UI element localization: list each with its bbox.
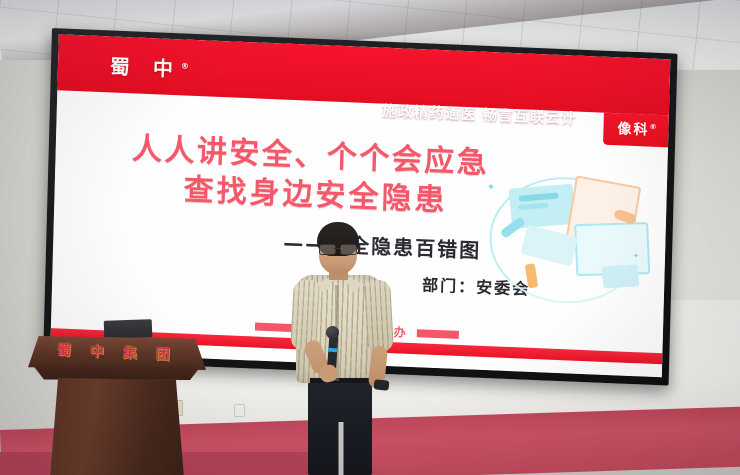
podium: 蜀 中 集 团 xyxy=(28,330,214,475)
sparkle-icon: ✦ xyxy=(633,252,639,260)
company-logo-text: 蜀 中 xyxy=(110,54,182,81)
glasses-icon xyxy=(319,244,357,253)
presenter-waist xyxy=(310,378,370,383)
illustration-tray-icon xyxy=(602,264,640,288)
registered-mark-icon: ® xyxy=(181,62,189,71)
presentation-room-photo: 蜀 中® 施政精药通医 畅言互联云计 像科® 人人讲安全、个个会应急 查找身边安… xyxy=(0,0,740,475)
sparkle-icon: ✦ xyxy=(487,182,496,193)
wall-outlet xyxy=(234,404,245,417)
footer-dash-right xyxy=(417,329,459,339)
presenter-leg-gap xyxy=(339,422,344,475)
slide-title-block: 人人讲安全、个个会应急 查找身边安全隐患 xyxy=(94,128,526,224)
corner-brand-text: 像科 xyxy=(617,121,649,138)
presenter xyxy=(288,222,394,475)
presenter-right-arm xyxy=(364,279,394,352)
company-logo: 蜀 中® xyxy=(110,50,190,82)
podium-lip xyxy=(30,366,204,380)
podium-body xyxy=(50,378,184,475)
microphone-indicator-band xyxy=(328,348,337,353)
wristwatch xyxy=(374,379,390,391)
microphone-head-icon xyxy=(326,326,339,339)
slide-illustration: ✦ ✦ xyxy=(482,164,664,311)
registered-mark-icon: ® xyxy=(649,123,656,131)
corner-brand-tag: 像科® xyxy=(603,113,669,148)
